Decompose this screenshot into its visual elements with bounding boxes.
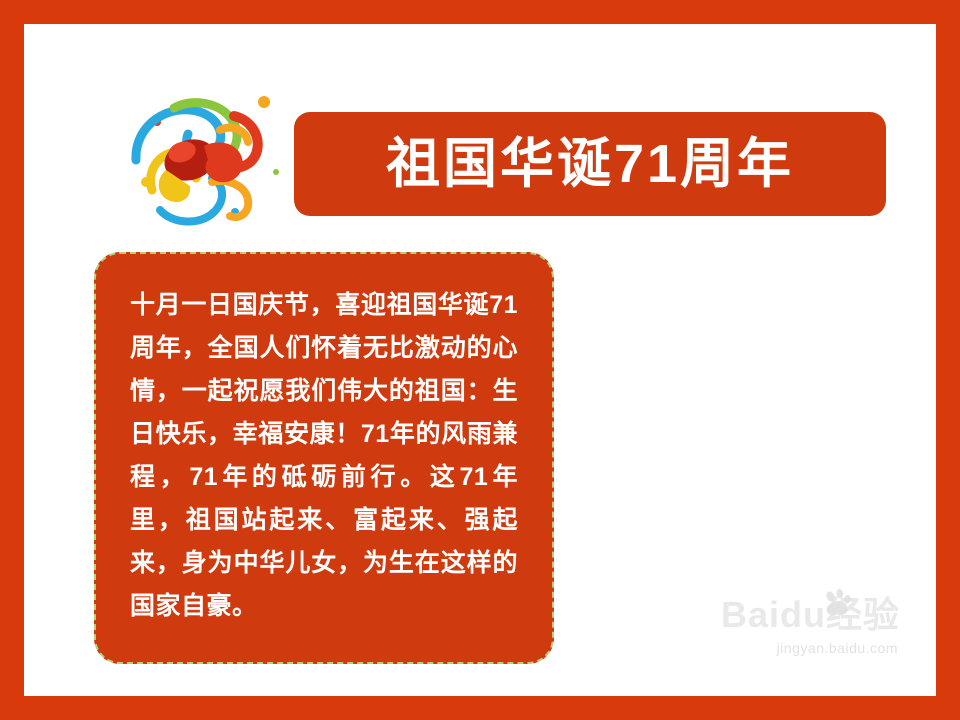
watermark: Baidu经验 jingyan.baidu.com <box>690 586 900 640</box>
body-text-panel: 十月一日国庆节，喜迎祖国华诞71周年，全国人们怀着无比激动的心情，一起祝愿我们伟… <box>94 252 554 664</box>
watermark-url: jingyan.baidu.com <box>777 640 898 656</box>
colorful-splash-graphic <box>116 86 296 236</box>
poster-slide: 祖国华诞71周年 十月一日国庆节，喜迎祖国华诞71周年，全国人们怀着无比激动的心… <box>0 0 960 720</box>
watermark-brand: Baidu经验 <box>721 586 900 638</box>
body-paragraph: 十月一日国庆节，喜迎祖国华诞71周年，全国人们怀着无比激动的心情，一起祝愿我们伟… <box>130 284 518 628</box>
poster-inner-frame: 祖国华诞71周年 十月一日国庆节，喜迎祖国华诞71周年，全国人们怀着无比激动的心… <box>22 22 938 698</box>
title-plaque: 祖国华诞71周年 <box>294 112 886 216</box>
paw-icon <box>822 588 852 618</box>
page-title: 祖国华诞71周年 <box>386 137 794 191</box>
